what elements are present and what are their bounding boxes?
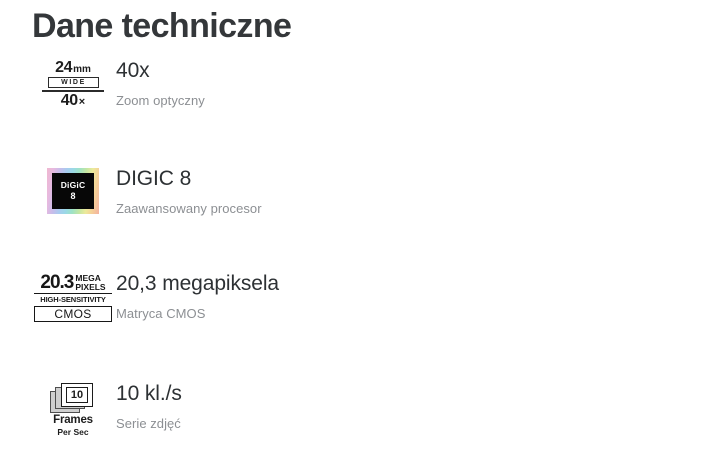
spec-item-tilt-lcd: Tilt-up LCD 180° Odchylany o 180 stopni …	[380, 269, 724, 379]
spec-item-megapixels: 20.3 MEGA PIXELS HIGH-SENSITIVITY CMOS 2…	[0, 269, 380, 379]
optical-zoom-icon: 24mm WIDE 40×	[30, 56, 116, 109]
pixels-label: PIXELS	[75, 283, 105, 292]
frames-per-second-icon: 10 Frames Per Sec	[30, 379, 116, 437]
spec-title: 40x	[116, 58, 205, 84]
spec-subtitle: Serie zdjęć	[116, 415, 182, 433]
megapixels-cmos-icon: 20.3 MEGA PIXELS HIGH-SENSITIVITY CMOS	[30, 269, 116, 322]
megapixel-number: 20.3	[40, 273, 73, 292]
frame-front: 10	[61, 383, 93, 407]
frames-label: Frames	[41, 414, 105, 427]
spec-title: 10 kl./s	[116, 381, 182, 407]
spec-item-optical-zoom: 24mm WIDE 40× 40x Zoom optyczny	[0, 56, 380, 164]
spec-item-digic-8: DiGiC 8 DIGIC 8 Zaawansowany procesor	[0, 164, 380, 269]
zoom-factor-value: 40	[61, 93, 78, 109]
specs-grid: 24mm WIDE 40× 40x Zoom optyczny 4K UHD 4…	[0, 56, 724, 459]
wide-label: WIDE	[48, 77, 99, 88]
spec-subtitle: Zaawansowany procesor	[116, 200, 262, 218]
spec-title: DIGIC 8	[116, 166, 262, 192]
focal-length-value: 24	[55, 60, 72, 76]
cmos-label: CMOS	[34, 306, 112, 322]
digic-8-processor-icon: DiGiC 8	[30, 164, 116, 214]
per-sec-label: Per Sec	[41, 427, 105, 437]
spec-subtitle: Zoom optyczny	[116, 92, 205, 110]
spec-item-4k: 4K UHD 4K Ultrawysoka rozdzielczość	[380, 56, 724, 164]
zoom-factor-unit: ×	[79, 97, 85, 108]
spec-subtitle: Matryca CMOS	[116, 305, 279, 323]
spec-item-5-axis-stabilization: 5-Axis Digital IS 5-osiowa stabilizacja	[380, 164, 724, 269]
high-sensitivity-label: HIGH-SENSITIVITY	[34, 293, 112, 305]
spec-title: 20,3 megapiksela	[116, 271, 279, 297]
digic-version-label: 8	[70, 192, 75, 201]
focal-length-unit: mm	[73, 65, 91, 75]
spec-item-burst-rate: 10 Frames Per Sec 10 kl./s Serie zdjęć	[0, 379, 380, 459]
page-title: Dane techniczne	[32, 4, 291, 48]
spec-item-bluetooth: Bluetooth® Bluetooth® Zawsze dostępna łą…	[380, 379, 724, 459]
frames-number: 10	[66, 387, 88, 403]
digic-brand-label: DiGiC	[61, 181, 86, 190]
